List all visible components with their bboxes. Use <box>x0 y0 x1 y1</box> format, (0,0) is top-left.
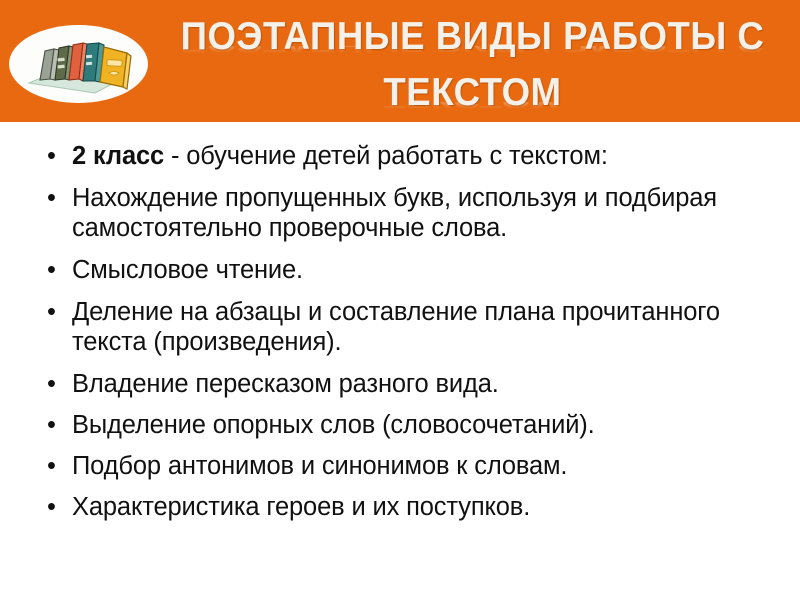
list-item-text: Нахождение пропущенных букв, используя и… <box>72 184 717 242</box>
bullet-marker: • <box>47 410 59 440</box>
list-item-text: Подбор антонимов и синонимов к словам. <box>72 452 567 480</box>
title-line-2: ТЕКСТОМ ТЕКСТОМ <box>150 72 795 122</box>
list-item-text: Выделение опорных слов (словосочетаний). <box>72 411 595 439</box>
list-item: • 2 класс - обучение детей работать с те… <box>0 141 800 171</box>
list-item: • Подбор антонимов и синонимов к словам. <box>0 451 800 481</box>
list-item: • Нахождение пропущенных букв, используя… <box>0 183 800 243</box>
list-item: • Смысловое чтение. <box>0 255 800 285</box>
list-item-text: Владение пересказом разного вида. <box>72 370 499 398</box>
bullet-list: • 2 класс - обучение детей работать с те… <box>0 122 800 522</box>
list-item-text: Смысловое чтение. <box>72 256 303 284</box>
slide: ПОЭТАПНЫЕ ВИДЫ РАБОТЫ С ПОЭТАПНЫЕ ВИДЫ Р… <box>0 0 800 600</box>
title-line-2-text: ТЕКСТОМ <box>169 72 775 114</box>
slide-header-band: ПОЭТАПНЫЕ ВИДЫ РАБОТЫ С ПОЭТАПНЫЕ ВИДЫ Р… <box>0 0 800 122</box>
list-item: • Выделение опорных слов (словосочетаний… <box>0 410 800 440</box>
bullet-marker: • <box>47 451 59 481</box>
list-item: • Характеристика героев и их поступков. <box>0 492 800 522</box>
bullet-marker: • <box>47 492 59 522</box>
title-line-1-text: ПОЭТАПНЫЕ ВИДЫ РАБОТЫ С <box>169 16 775 58</box>
slide-body: • 2 класс - обучение детей работать с те… <box>0 122 800 600</box>
list-item-lead: 2 класс <box>72 142 164 170</box>
bullet-marker: • <box>47 369 59 399</box>
list-item: • Владение пересказом разного вида. <box>0 369 800 399</box>
stack-of-books-icon <box>9 25 148 103</box>
bullet-marker: • <box>47 255 59 285</box>
bullet-marker: • <box>47 183 59 213</box>
list-item-text: - обучение детей работать с текстом: <box>164 142 608 170</box>
list-item: • Деление на абзацы и составление плана … <box>0 297 800 357</box>
title-line-1: ПОЭТАПНЫЕ ВИДЫ РАБОТЫ С ПОЭТАПНЫЕ ВИДЫ Р… <box>150 16 795 74</box>
slide-title: ПОЭТАПНЫЕ ВИДЫ РАБОТЫ С ПОЭТАПНЫЕ ВИДЫ Р… <box>150 4 795 120</box>
bullet-marker: • <box>47 141 59 171</box>
emblem <box>9 25 148 103</box>
bullet-marker: • <box>47 297 59 327</box>
list-item-text: Характеристика героев и их поступков. <box>72 493 530 521</box>
list-item-text: Деление на абзацы и составление плана пр… <box>72 298 720 356</box>
